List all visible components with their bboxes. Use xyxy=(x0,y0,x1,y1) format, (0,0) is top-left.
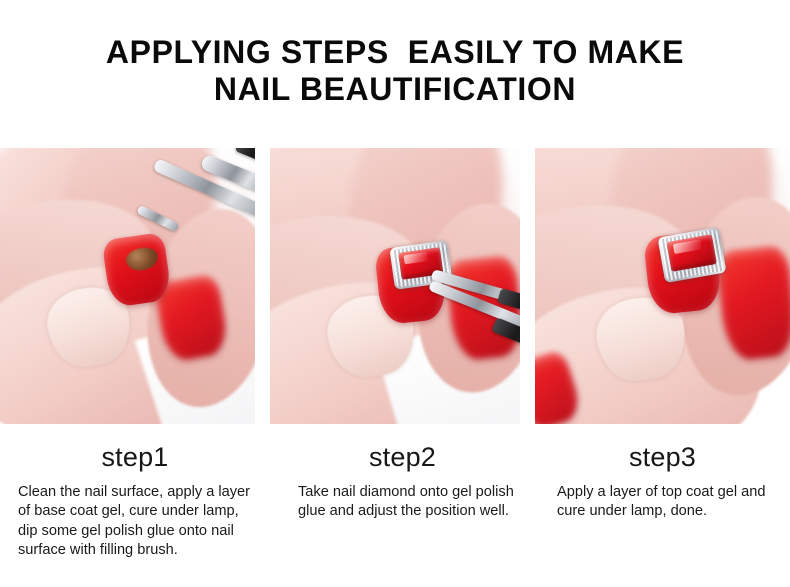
step1-photo xyxy=(0,148,255,424)
step1-label: step1 xyxy=(0,424,270,473)
caption-step1: step1 Clean the nail surface, apply a la… xyxy=(0,424,270,587)
step2-photo xyxy=(270,148,520,424)
caption-step2: step2 Take nail diamond onto gel polish … xyxy=(270,424,535,587)
title-line-2: NAIL BEAUTIFICATION xyxy=(0,71,790,108)
photo-scene-1 xyxy=(0,148,255,424)
step2-label: step2 xyxy=(270,424,535,473)
step2-description: Take nail diamond onto gel polish glue a… xyxy=(270,473,535,522)
step3-photo xyxy=(535,148,790,424)
photo-scene-3 xyxy=(535,148,790,424)
step1-description: Clean the nail surface, apply a layer of… xyxy=(0,473,270,561)
page-title: APPLYING STEPS EASILY TO MAKE NAIL BEAUT… xyxy=(0,0,790,108)
step-captions: step1 Clean the nail surface, apply a la… xyxy=(0,424,790,587)
photo-scene-2 xyxy=(270,148,520,424)
step3-label: step3 xyxy=(535,424,790,473)
title-line-1: APPLYING STEPS EASILY TO MAKE xyxy=(0,34,790,71)
step3-description: Apply a layer of top coat gel and cure u… xyxy=(535,473,790,522)
caption-step3: step3 Apply a layer of top coat gel and … xyxy=(535,424,790,587)
step-photo-strip xyxy=(0,148,790,424)
